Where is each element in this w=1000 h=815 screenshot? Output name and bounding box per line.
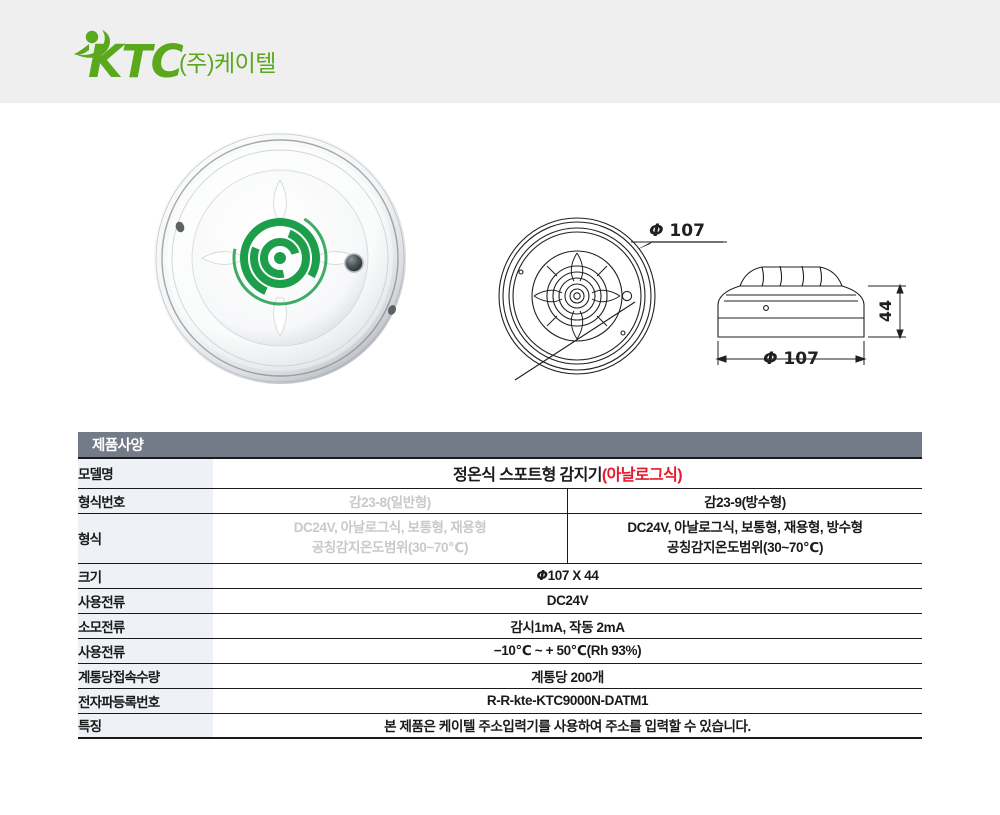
row-label-features: 특징 [78, 713, 213, 738]
row-label-type: 형식 [78, 513, 213, 563]
heat-detector-photo [152, 130, 408, 386]
table-row: 사용전류 −10℃ ~ + 50℃(Rh 93%) [78, 638, 922, 663]
spec-table-header-row: 제품사양 [78, 432, 922, 458]
row-label-size: 크기 [78, 563, 213, 588]
row-label-type-number: 형식번호 [78, 488, 213, 513]
row-value-type-number-waterproof: 감23-9(방수형) [568, 488, 923, 513]
row-value-features: 본 제품은 케이텔 주소입력기를 사용하여 주소를 입력할 수 있습니다. [213, 713, 922, 738]
product-spec-table: 제품사양 모델명 정온식 스포트형 감지기(아날로그식) 형식번호 감23-8(… [78, 432, 922, 739]
row-label-devices-per-line: 계통당접속수량 [78, 663, 213, 688]
table-row: 모델명 정온식 스포트형 감지기(아날로그식) [78, 458, 922, 488]
row-value-type-waterproof: DC24V, 아날로그식, 보통형, 재용형, 방수형 공칭감지온도범위(30~… [568, 513, 923, 563]
top-view-diameter-label: Φ 107 [649, 221, 705, 241]
model-name-main: 정온식 스포트형 감지기 [453, 467, 602, 484]
row-value-model-name: 정온식 스포트형 감지기(아날로그식) [213, 458, 922, 488]
table-row: 소모전류 감시1mA, 작동 2mA [78, 613, 922, 638]
row-value-consumption-current: 감시1mA, 작동 2mA [213, 613, 922, 638]
table-row: 크기 Φ107 X 44 [78, 563, 922, 588]
size-value: 107 X 44 [548, 568, 599, 583]
row-value-type-general: DC24V, 아날로그식, 보통형, 재용형 공칭감지온도범위(30~70℃) [213, 513, 568, 563]
side-view-height-label: 44 [876, 300, 895, 322]
type-waterproof-line2: 공칭감지온도범위(30~70℃) [568, 538, 922, 558]
table-row: 형식번호 감23-8(일반형) 감23-9(방수형) [78, 488, 922, 513]
side-view-drawing: 44 Φ 107 [700, 243, 920, 373]
logo-company-name: (주)케이텔 [179, 44, 276, 83]
logo-wordmark: KTC [88, 39, 182, 84]
table-row: 사용전류 DC24V [78, 588, 922, 613]
row-value-devices-per-line: 계통당 200개 [213, 663, 922, 688]
diameter-symbol: Φ [537, 568, 548, 584]
table-row: 형식 DC24V, 아날로그식, 보통형, 재용형 공칭감지온도범위(30~70… [78, 513, 922, 563]
type-general-line2: 공칭감지온도범위(30~70℃) [213, 538, 567, 558]
spec-table-title: 제품사양 [78, 432, 922, 458]
row-value-operating-voltage: DC24V [213, 588, 922, 613]
row-value-operating-temperature: −10℃ ~ + 50℃(Rh 93%) [213, 638, 922, 663]
row-label-operating-voltage: 사용전류 [78, 588, 213, 613]
type-general-line1: DC24V, 아날로그식, 보통형, 재용형 [213, 518, 567, 538]
row-label-operating-temperature: 사용전류 [78, 638, 213, 663]
type-waterproof-line1: DC24V, 아날로그식, 보통형, 재용형, 방수형 [568, 518, 922, 538]
side-view-diameter-label: Φ 107 [763, 349, 819, 369]
table-row: 계통당접속수량 계통당 200개 [78, 663, 922, 688]
model-name-accent: (아날로그식) [602, 467, 682, 484]
table-row: 특징 본 제품은 케이텔 주소입력기를 사용하여 주소를 입력할 수 있습니다. [78, 713, 922, 738]
row-label-consumption-current: 소모전류 [78, 613, 213, 638]
product-spec-page: KTC (주)케이텔 [0, 0, 1000, 815]
ktc-logo-mark: KTC [72, 31, 170, 83]
table-row: 전자파등록번호 R-R-kte-KTC9000N-DATM1 [78, 688, 922, 713]
company-logo[interactable]: KTC (주)케이텔 [72, 31, 276, 83]
row-value-emc-registration-number: R-R-kte-KTC9000N-DATM1 [213, 688, 922, 713]
row-value-size: Φ107 X 44 [213, 563, 922, 588]
row-value-type-number-general: 감23-8(일반형) [213, 488, 568, 513]
product-imagery-area: Φ 107 44 [0, 103, 1000, 423]
row-label-emc-registration-number: 전자파등록번호 [78, 688, 213, 713]
row-label-model-name: 모델명 [78, 458, 213, 488]
page-header-band: KTC (주)케이텔 [0, 0, 1000, 103]
